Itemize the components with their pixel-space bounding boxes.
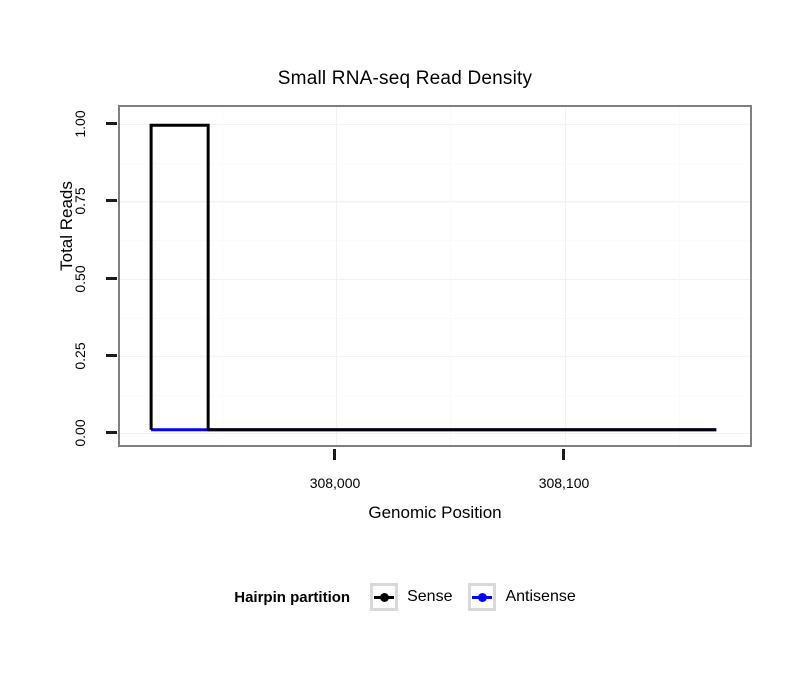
legend-key-dot-icon: [478, 593, 487, 602]
y-tick-mark-0: [106, 431, 117, 434]
chart-title: Small RNA-seq Read Density: [0, 68, 810, 90]
x-tick-label-0: 308,000: [275, 475, 395, 491]
y-tick-label-0: 0.00: [72, 405, 88, 461]
legend-title: Hairpin partition: [234, 589, 350, 606]
y-tick-mark-3: [106, 199, 117, 202]
legend-key-antisense-icon: [468, 583, 496, 611]
x-tick-label-1: 308,100: [504, 475, 624, 491]
legend-item-sense[interactable]: Sense: [370, 583, 452, 611]
y-tick-label-2: 0.50: [72, 251, 88, 307]
chart-container: Small RNA-seq Read Density Total Reads 0…: [0, 0, 810, 690]
y-tick-mark-2: [106, 277, 117, 280]
legend-item-antisense[interactable]: Antisense: [468, 583, 575, 611]
y-tick-mark-1: [106, 354, 117, 357]
series-layer: [120, 107, 750, 445]
x-tick-mark-0: [333, 449, 336, 460]
legend: Hairpin partition Sense Antisense: [0, 583, 810, 611]
y-tick-label-3: 0.75: [72, 173, 88, 229]
legend-label-antisense: Antisense: [505, 588, 575, 606]
plot-panel: [118, 105, 752, 447]
y-tick-mark-4: [106, 122, 117, 125]
legend-label-sense: Sense: [407, 588, 452, 606]
legend-key-sense-icon: [370, 583, 398, 611]
y-tick-label-1: 0.25: [72, 328, 88, 384]
x-axis-title: Genomic Position: [118, 503, 752, 523]
y-tick-label-4: 1.00: [72, 96, 88, 152]
x-tick-mark-1: [562, 449, 565, 460]
legend-key-dot-icon: [380, 593, 389, 602]
series-line-sense: [151, 125, 716, 430]
